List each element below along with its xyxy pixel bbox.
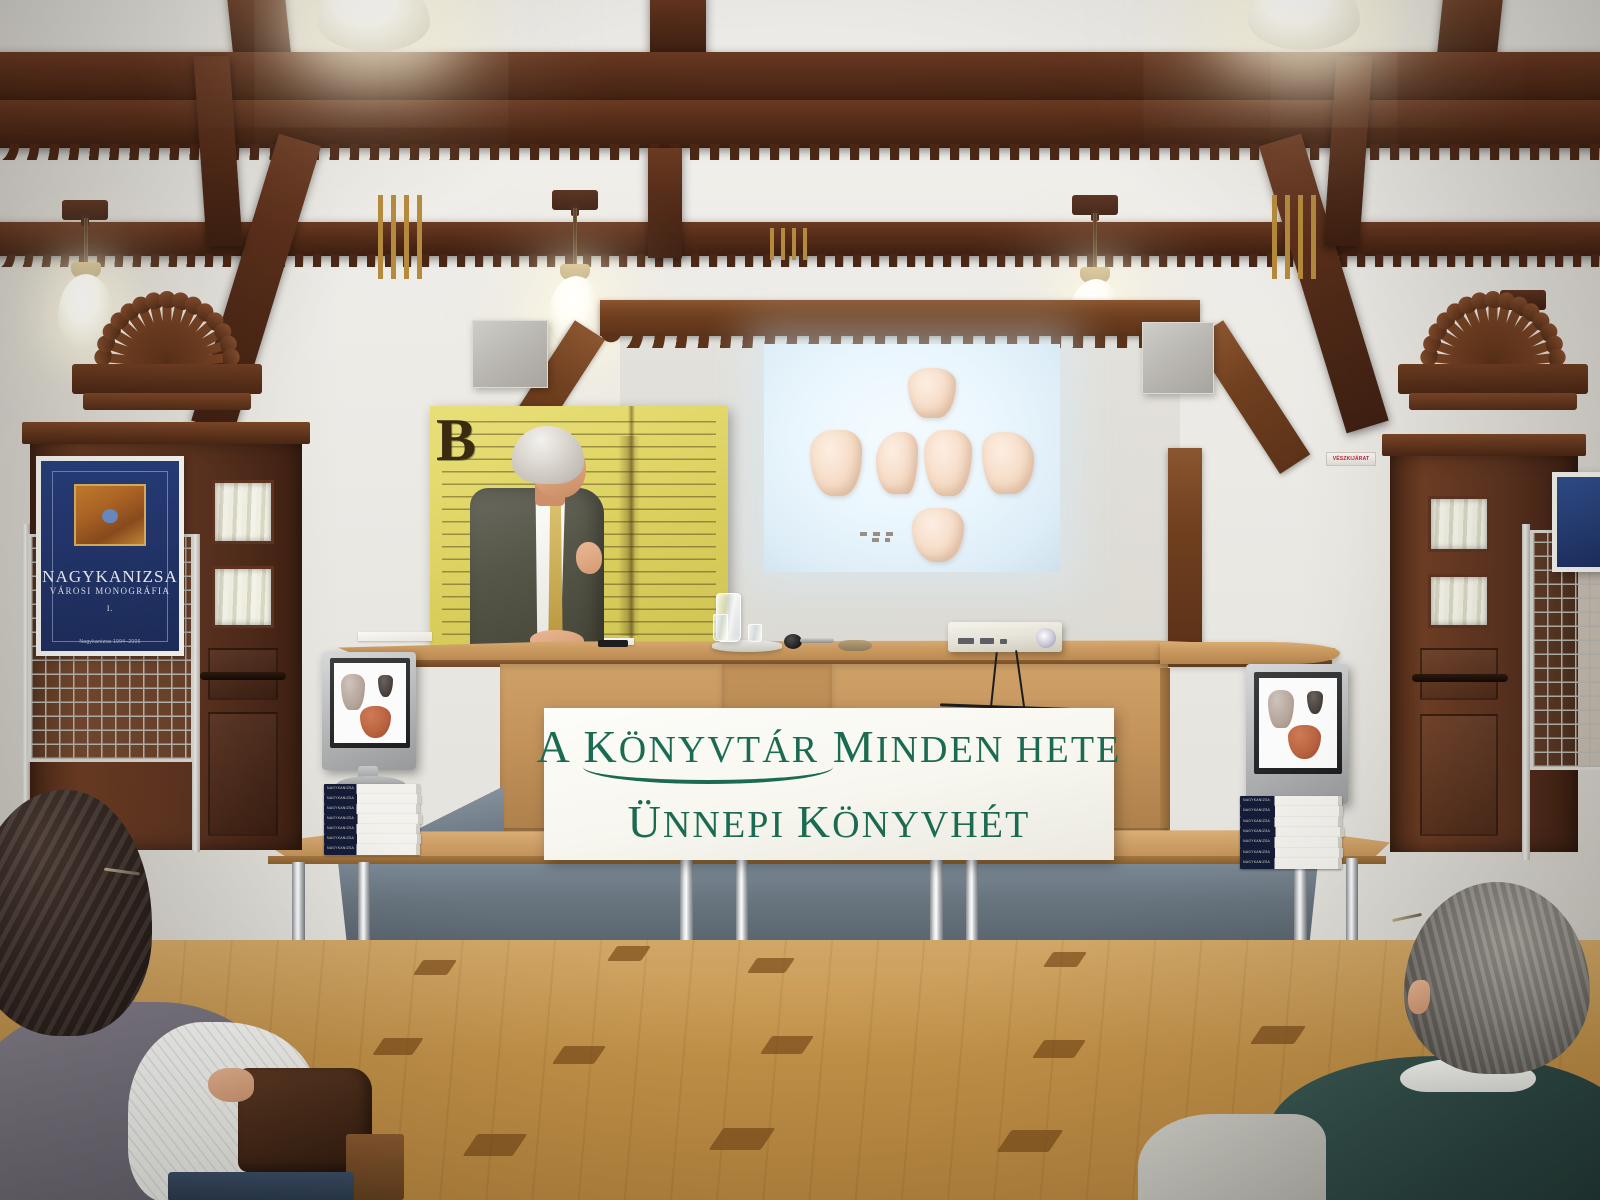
artifact-center <box>924 430 972 496</box>
data-projector <box>948 622 1062 652</box>
wall-speaker-right <box>1142 322 1214 394</box>
door-right-glass-upper <box>1428 496 1490 552</box>
lamp-mount-left <box>62 200 108 220</box>
ceiling-post-center <box>648 148 682 258</box>
poster-subtitle: VÁROSI MONOGRÁFIA <box>41 586 179 596</box>
door-right-cornice <box>1382 434 1586 456</box>
list-item: NAGYKANIZSA <box>324 814 422 824</box>
monograph-poster: NAGYKANIZSA VÁROSI MONOGRÁFIA I. Nagykan… <box>36 456 184 656</box>
poster-title: NAGYKANIZSA <box>41 567 179 587</box>
projector-lens <box>1036 628 1056 648</box>
audience-woman-hand <box>208 1068 254 1102</box>
book-spine-label: NAGYKANIZSA <box>327 826 354 830</box>
projection-screen <box>764 344 1060 572</box>
list-item: NAGYKANIZSA <box>1240 806 1343 817</box>
door-left-glass-upper <box>212 480 274 544</box>
book-spine-label: NAGYKANIZSA <box>1243 829 1270 833</box>
eyeglasses-on-desk <box>838 640 872 651</box>
poster-footer: Nagykanizsa 1994–2006 <box>41 639 179 645</box>
lamp-cord-center-left <box>573 208 577 268</box>
left-monitor-vessel-urn <box>341 674 365 710</box>
banner-line2-part2: ÖNYVHÉT <box>832 804 1030 846</box>
decorative-slat-left <box>378 195 424 279</box>
lamp-mount-center-left <box>552 190 598 210</box>
banner-article: A <box>537 721 572 772</box>
banner-line-1: A KÖNYVTÁR MINDEN HETE <box>537 720 1122 773</box>
artifact-left-outer <box>810 430 862 496</box>
banner-line2-cap2: K <box>797 796 832 847</box>
charter-stain <box>618 436 640 636</box>
banner-line2-part1: NNEPI <box>663 804 785 846</box>
sunburst-ornament-right <box>1398 286 1588 364</box>
book-spine-label: NAGYKANIZSA <box>1243 850 1270 854</box>
list-item: NAGYKANIZSA <box>1240 848 1343 858</box>
ceiling-rafter-center <box>650 0 706 56</box>
wall-speaker-left <box>472 320 548 388</box>
lamp-cord-center-right <box>1093 213 1097 271</box>
banner-keyword: KÖNYVTÁR <box>583 721 832 772</box>
book-spine-label: NAGYKANIZSA <box>1243 839 1270 843</box>
lamp-mount-center-right <box>1072 195 1118 215</box>
list-item: NAGYKANIZSA <box>324 844 420 855</box>
drinking-glass-1 <box>713 614 728 641</box>
ceiling-rafter-left <box>226 0 291 60</box>
list-item: NAGYKANIZSA <box>324 794 421 804</box>
scale-bar <box>860 532 896 536</box>
book-spine-label: NAGYKANIZSA <box>327 846 354 850</box>
book-spine-label: NAGYKANIZSA <box>1243 819 1270 823</box>
list-item: NAGYKANIZSA <box>324 834 421 844</box>
book-spine-label: NAGYKANIZSA <box>1243 808 1270 812</box>
display-board-right-post <box>1522 524 1530 860</box>
artifact-top <box>908 368 956 418</box>
presenter-hand-raised <box>576 542 602 574</box>
artifact-bottom <box>912 508 964 562</box>
banner-keyword-cap: K <box>583 721 618 772</box>
book-spine-label: NAGYKANIZSA <box>1243 860 1270 864</box>
stage-arch-right-post <box>1168 448 1202 648</box>
stage-arch-top <box>600 300 1200 336</box>
left-monitor-vessel-goblet <box>378 675 393 697</box>
right-monitor-vessel-goblet <box>1307 691 1323 714</box>
remote-control <box>598 640 628 647</box>
presenter-desk-right-wing <box>1160 642 1340 664</box>
emergency-exit-sign: VÉSZKIJÁRAT <box>1326 452 1376 466</box>
right-monitor-screen <box>1259 678 1337 768</box>
banner-rest: INDEN HETE <box>876 729 1122 771</box>
chair-back-left <box>168 1172 354 1200</box>
door-left-glass-lower <box>212 566 274 628</box>
audience-man-trouser <box>1138 1114 1326 1200</box>
projector-port-2 <box>980 638 994 644</box>
decorative-slat-right <box>1272 195 1318 279</box>
audience-man-ear <box>1408 980 1430 1014</box>
banner-line2-cap1: Ü <box>628 796 663 847</box>
event-banner: A KÖNYVTÁR MINDEN HETE ÜNNEPI KÖNYVHÉT <box>544 708 1114 860</box>
book-spine-label: NAGYKANIZSA <box>1243 798 1270 802</box>
left-monitor-screen <box>334 663 406 743</box>
banner-keyword-underline <box>583 767 832 784</box>
left-book-stack: NAGYKANIZSA NAGYKANIZSA NAGYKANIZSA NAGY… <box>324 784 422 856</box>
door-right-panel-low <box>1420 714 1498 836</box>
door-left-panel-low <box>208 712 278 836</box>
list-item: NAGYKANIZSA <box>324 824 420 834</box>
list-item: NAGYKANIZSA <box>1240 796 1342 806</box>
banner-rest-cap: M <box>833 721 876 772</box>
door-right-glass-lower <box>1428 574 1490 628</box>
right-monitor-vessel-urn <box>1268 690 1294 728</box>
door-left-cornice <box>22 422 310 444</box>
emergency-exit-label: VÉSZKIJÁRAT <box>1333 456 1370 462</box>
charter-initial-letter: B <box>436 411 492 473</box>
book-spine-label: NAGYKANIZSA <box>327 816 354 820</box>
decorative-slat-center <box>770 228 810 260</box>
banner-keyword-rest: ÖNYVTÁR <box>619 729 819 771</box>
book-spine-label: NAGYKANIZSA <box>327 796 354 800</box>
table-microphone-stem <box>800 638 834 643</box>
banner-line-2: ÜNNEPI KÖNYVHÉT <box>628 795 1031 848</box>
list-item: NAGYKANIZSA <box>324 784 420 794</box>
poster-illuminated-miniature <box>74 484 146 547</box>
book-spine-label: NAGYKANIZSA <box>327 786 354 790</box>
list-item: NAGYKANIZSA <box>1240 817 1342 827</box>
list-item: NAGYKANIZSA <box>324 804 420 814</box>
conference-hall-photo: B <box>0 0 1600 1200</box>
artifact-left-inner <box>876 432 918 494</box>
table-leg-2 <box>358 862 370 946</box>
drinking-glass-2 <box>748 624 762 642</box>
book-spine-label: NAGYKANIZSA <box>327 836 354 840</box>
door-left-push-bar <box>200 672 286 680</box>
list-item: NAGYKANIZSA <box>1240 827 1344 837</box>
scale-bar-lower <box>872 538 890 542</box>
desk-papers <box>358 632 432 641</box>
right-poster <box>1552 472 1600 572</box>
list-item: NAGYKANIZSA <box>1240 858 1342 869</box>
projector-port-3 <box>1000 639 1007 644</box>
artifact-right-outer <box>982 432 1034 494</box>
right-book-stack: NAGYKANIZSA NAGYKANIZSA NAGYKANIZSA NAGY… <box>1240 796 1344 870</box>
book-spine-label: NAGYKANIZSA <box>327 806 354 810</box>
poster-volume: I. <box>41 604 179 613</box>
presenter-desk-leg-panel <box>1160 668 1170 846</box>
right-monitor-vessel-pot <box>1288 725 1321 759</box>
chair-armrest-left <box>346 1134 404 1200</box>
sunburst-ornament-left <box>72 286 262 364</box>
door-right-push-bar <box>1412 674 1508 682</box>
left-monitor-vessel-pot <box>360 706 391 738</box>
projector-port-1 <box>958 638 974 644</box>
list-item: NAGYKANIZSA <box>1240 837 1342 848</box>
